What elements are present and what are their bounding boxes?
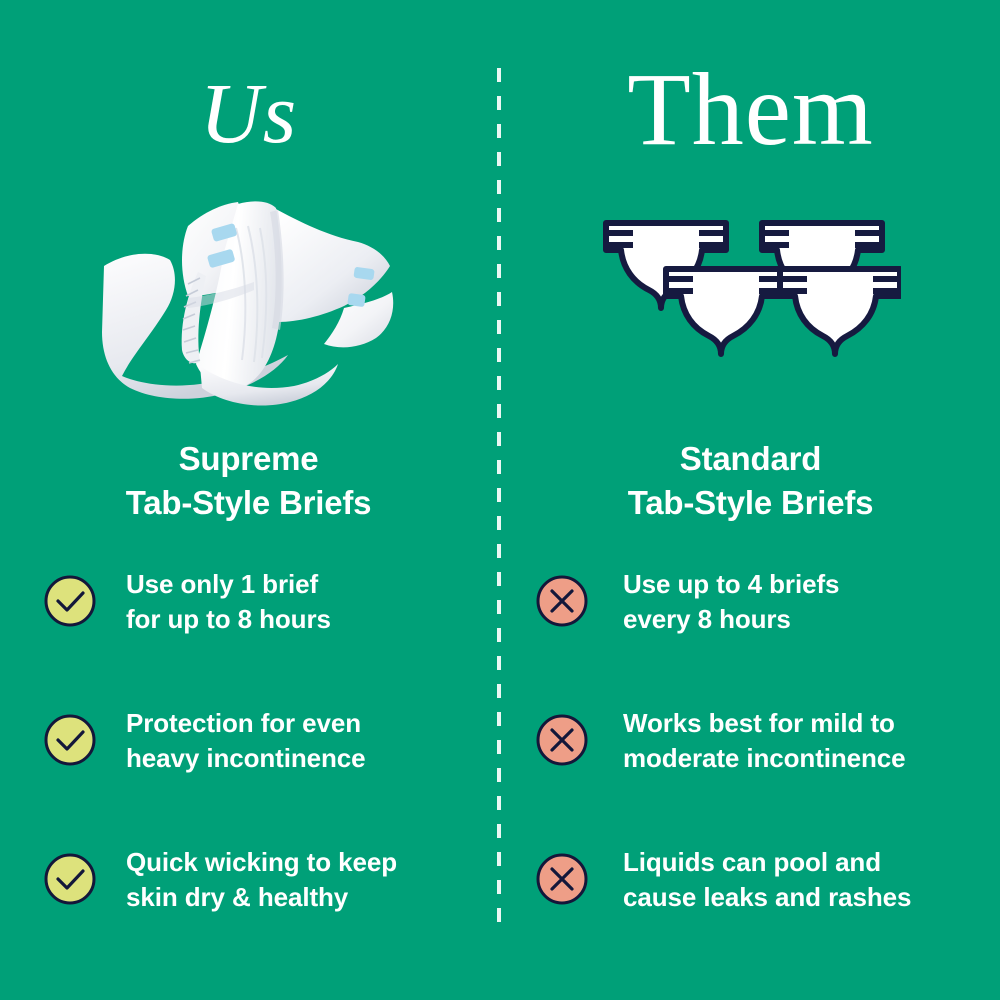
feature-row: Liquids can pool and cause leaks and ras… bbox=[501, 838, 1000, 977]
cross-circle-icon bbox=[535, 574, 589, 628]
feature-list-them: Use up to 4 briefs every 8 hours Works b… bbox=[501, 560, 1000, 977]
feature-text: Use up to 4 briefs every 8 hours bbox=[623, 567, 1000, 636]
product-image-them bbox=[501, 170, 1000, 410]
product-name-line2: Tab-Style Briefs bbox=[501, 481, 1000, 525]
column-heading-us: Us bbox=[0, 70, 497, 156]
feature-text: Works best for mild to moderate incontin… bbox=[623, 706, 1000, 775]
column-them: Them bbox=[501, 0, 1000, 1000]
feature-row: Protection for even heavy incontinence bbox=[0, 699, 497, 838]
check-circle-icon bbox=[43, 713, 97, 767]
product-name-them: Standard Tab-Style Briefs bbox=[501, 437, 1000, 525]
feature-text: Protection for even heavy incontinence bbox=[126, 706, 486, 775]
column-heading-them: Them bbox=[501, 58, 1000, 162]
cross-circle-icon bbox=[535, 713, 589, 767]
standard-briefs-icon-group bbox=[601, 218, 901, 368]
product-name-line1: Supreme bbox=[0, 437, 497, 481]
product-name-line2: Tab-Style Briefs bbox=[0, 481, 497, 525]
product-name-us: Supreme Tab-Style Briefs bbox=[0, 437, 497, 525]
supreme-brief-photo-icon bbox=[96, 170, 416, 410]
column-us: Us bbox=[0, 0, 497, 1000]
comparison-infographic: Us bbox=[0, 0, 1000, 1000]
feature-row: Quick wicking to keep skin dry & healthy bbox=[0, 838, 497, 977]
product-image-us bbox=[0, 170, 497, 410]
feature-row: Works best for mild to moderate incontin… bbox=[501, 699, 1000, 838]
check-circle-icon bbox=[43, 574, 97, 628]
product-name-line1: Standard bbox=[501, 437, 1000, 481]
feature-row: Use only 1 brief for up to 8 hours bbox=[0, 560, 497, 699]
feature-text: Quick wicking to keep skin dry & healthy bbox=[126, 845, 486, 914]
feature-row: Use up to 4 briefs every 8 hours bbox=[501, 560, 1000, 699]
feature-list-us: Use only 1 brief for up to 8 hours Prote… bbox=[0, 560, 497, 977]
check-circle-icon bbox=[43, 852, 97, 906]
feature-text: Use only 1 brief for up to 8 hours bbox=[126, 567, 486, 636]
cross-circle-icon bbox=[535, 852, 589, 906]
feature-text: Liquids can pool and cause leaks and ras… bbox=[623, 845, 1000, 914]
